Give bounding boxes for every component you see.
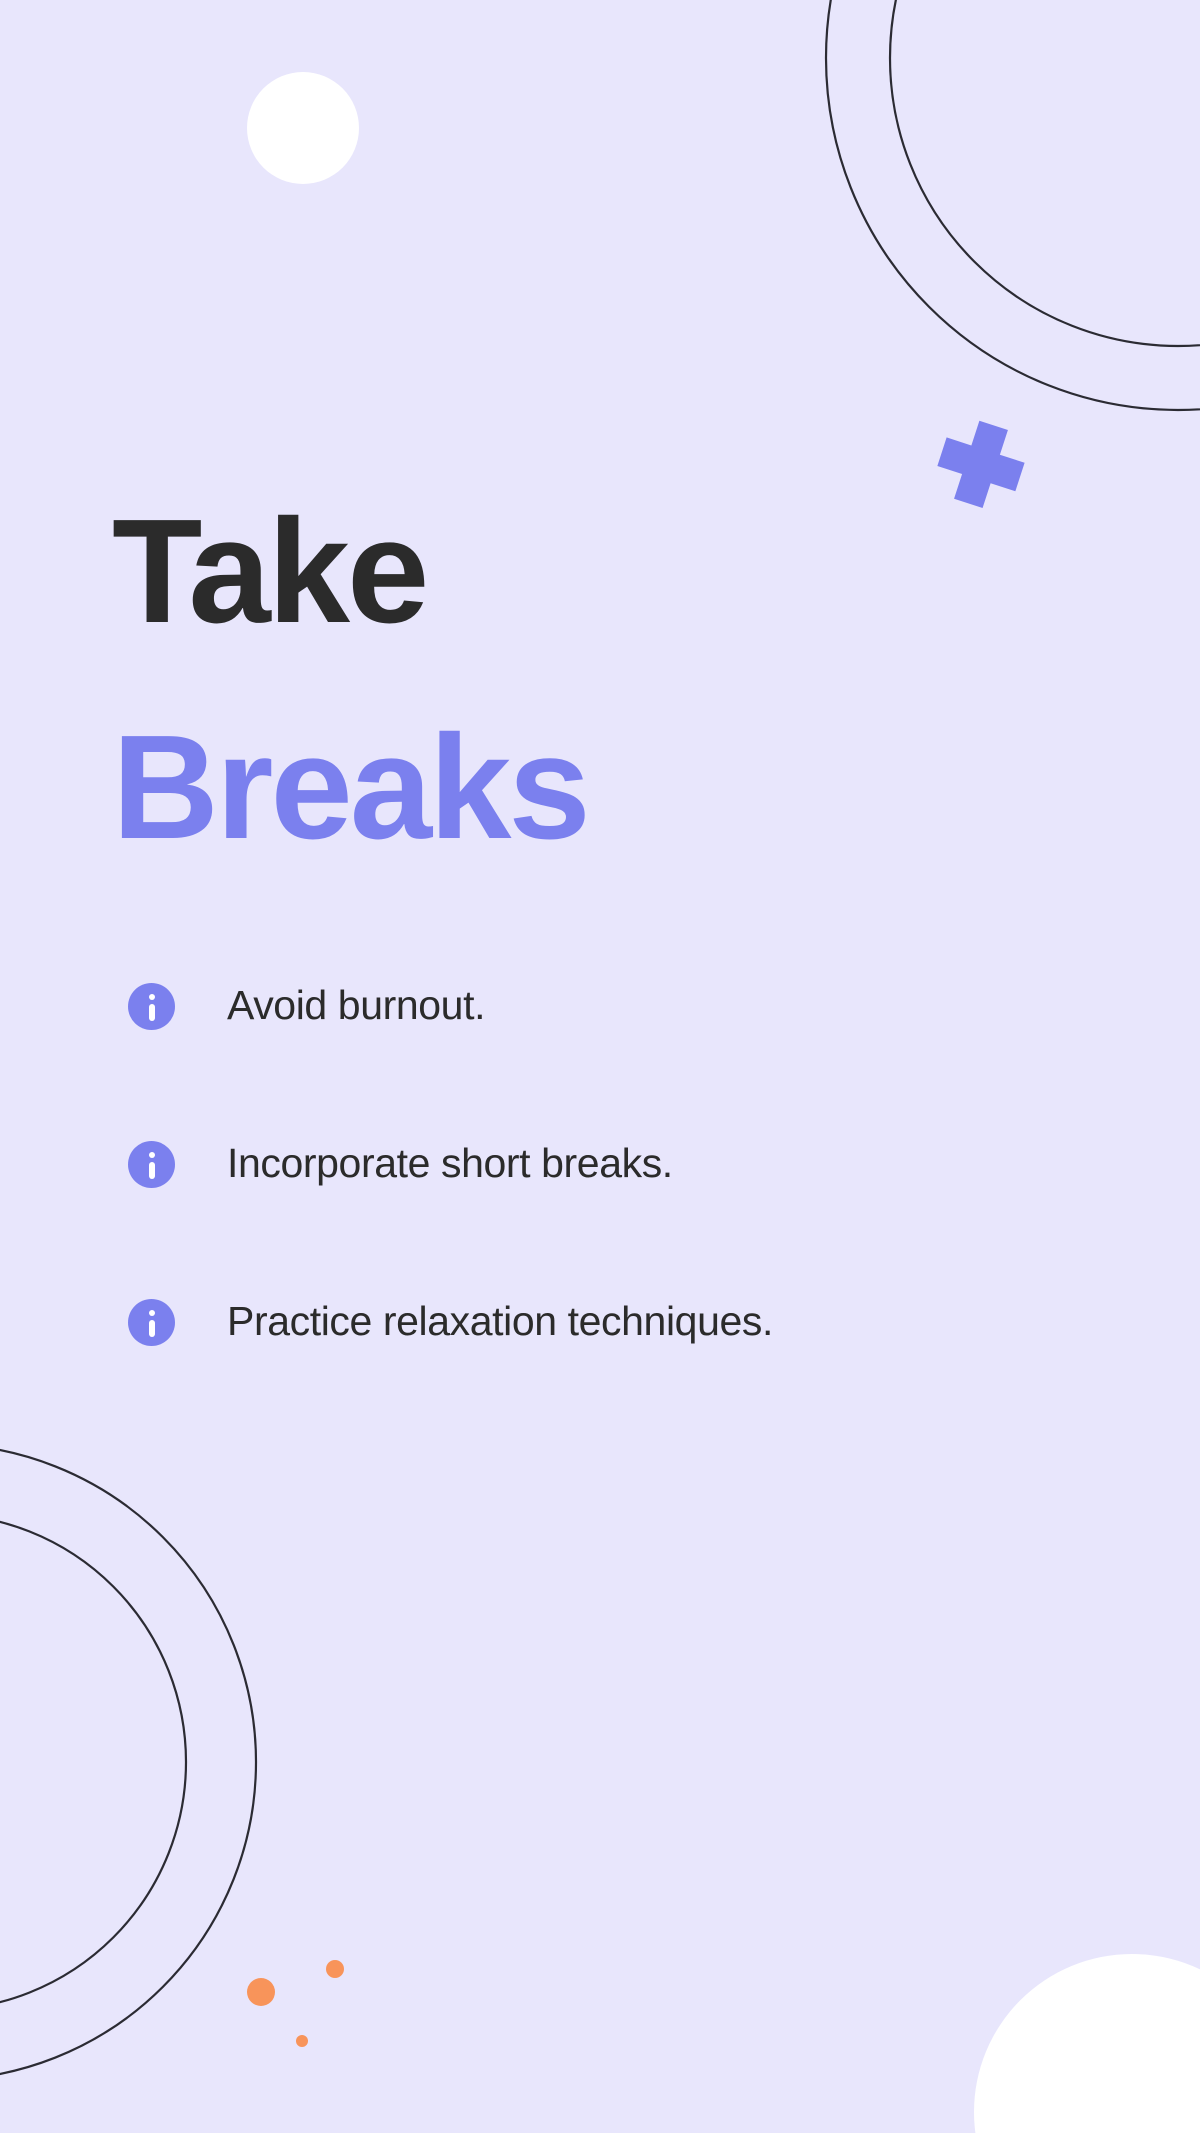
bullet-list: Avoid burnout. Incorporate short breaks.… <box>128 975 1168 1353</box>
poster-canvas: Take Breaks Avoid burnout. Incorporate s… <box>0 0 1200 2133</box>
headline-block: Take Breaks <box>112 498 1112 862</box>
bullet-text: Practice relaxation techniques. <box>227 1299 773 1344</box>
list-item: Practice relaxation techniques. <box>128 1291 1168 1353</box>
bullet-text: Avoid burnout. <box>227 983 485 1028</box>
list-item: Avoid burnout. <box>128 975 1168 1037</box>
info-circle-icon <box>128 1141 175 1188</box>
info-circle-icon <box>128 983 175 1030</box>
headline-line-primary: Take <box>112 498 1112 646</box>
headline-line-accent: Breaks <box>112 714 1112 862</box>
list-item: Incorporate short breaks. <box>128 1133 1168 1195</box>
info-circle-icon <box>128 1299 175 1346</box>
bullet-text: Incorporate short breaks. <box>227 1141 673 1186</box>
poster-content: Take Breaks Avoid burnout. Incorporate s… <box>0 0 1200 2133</box>
